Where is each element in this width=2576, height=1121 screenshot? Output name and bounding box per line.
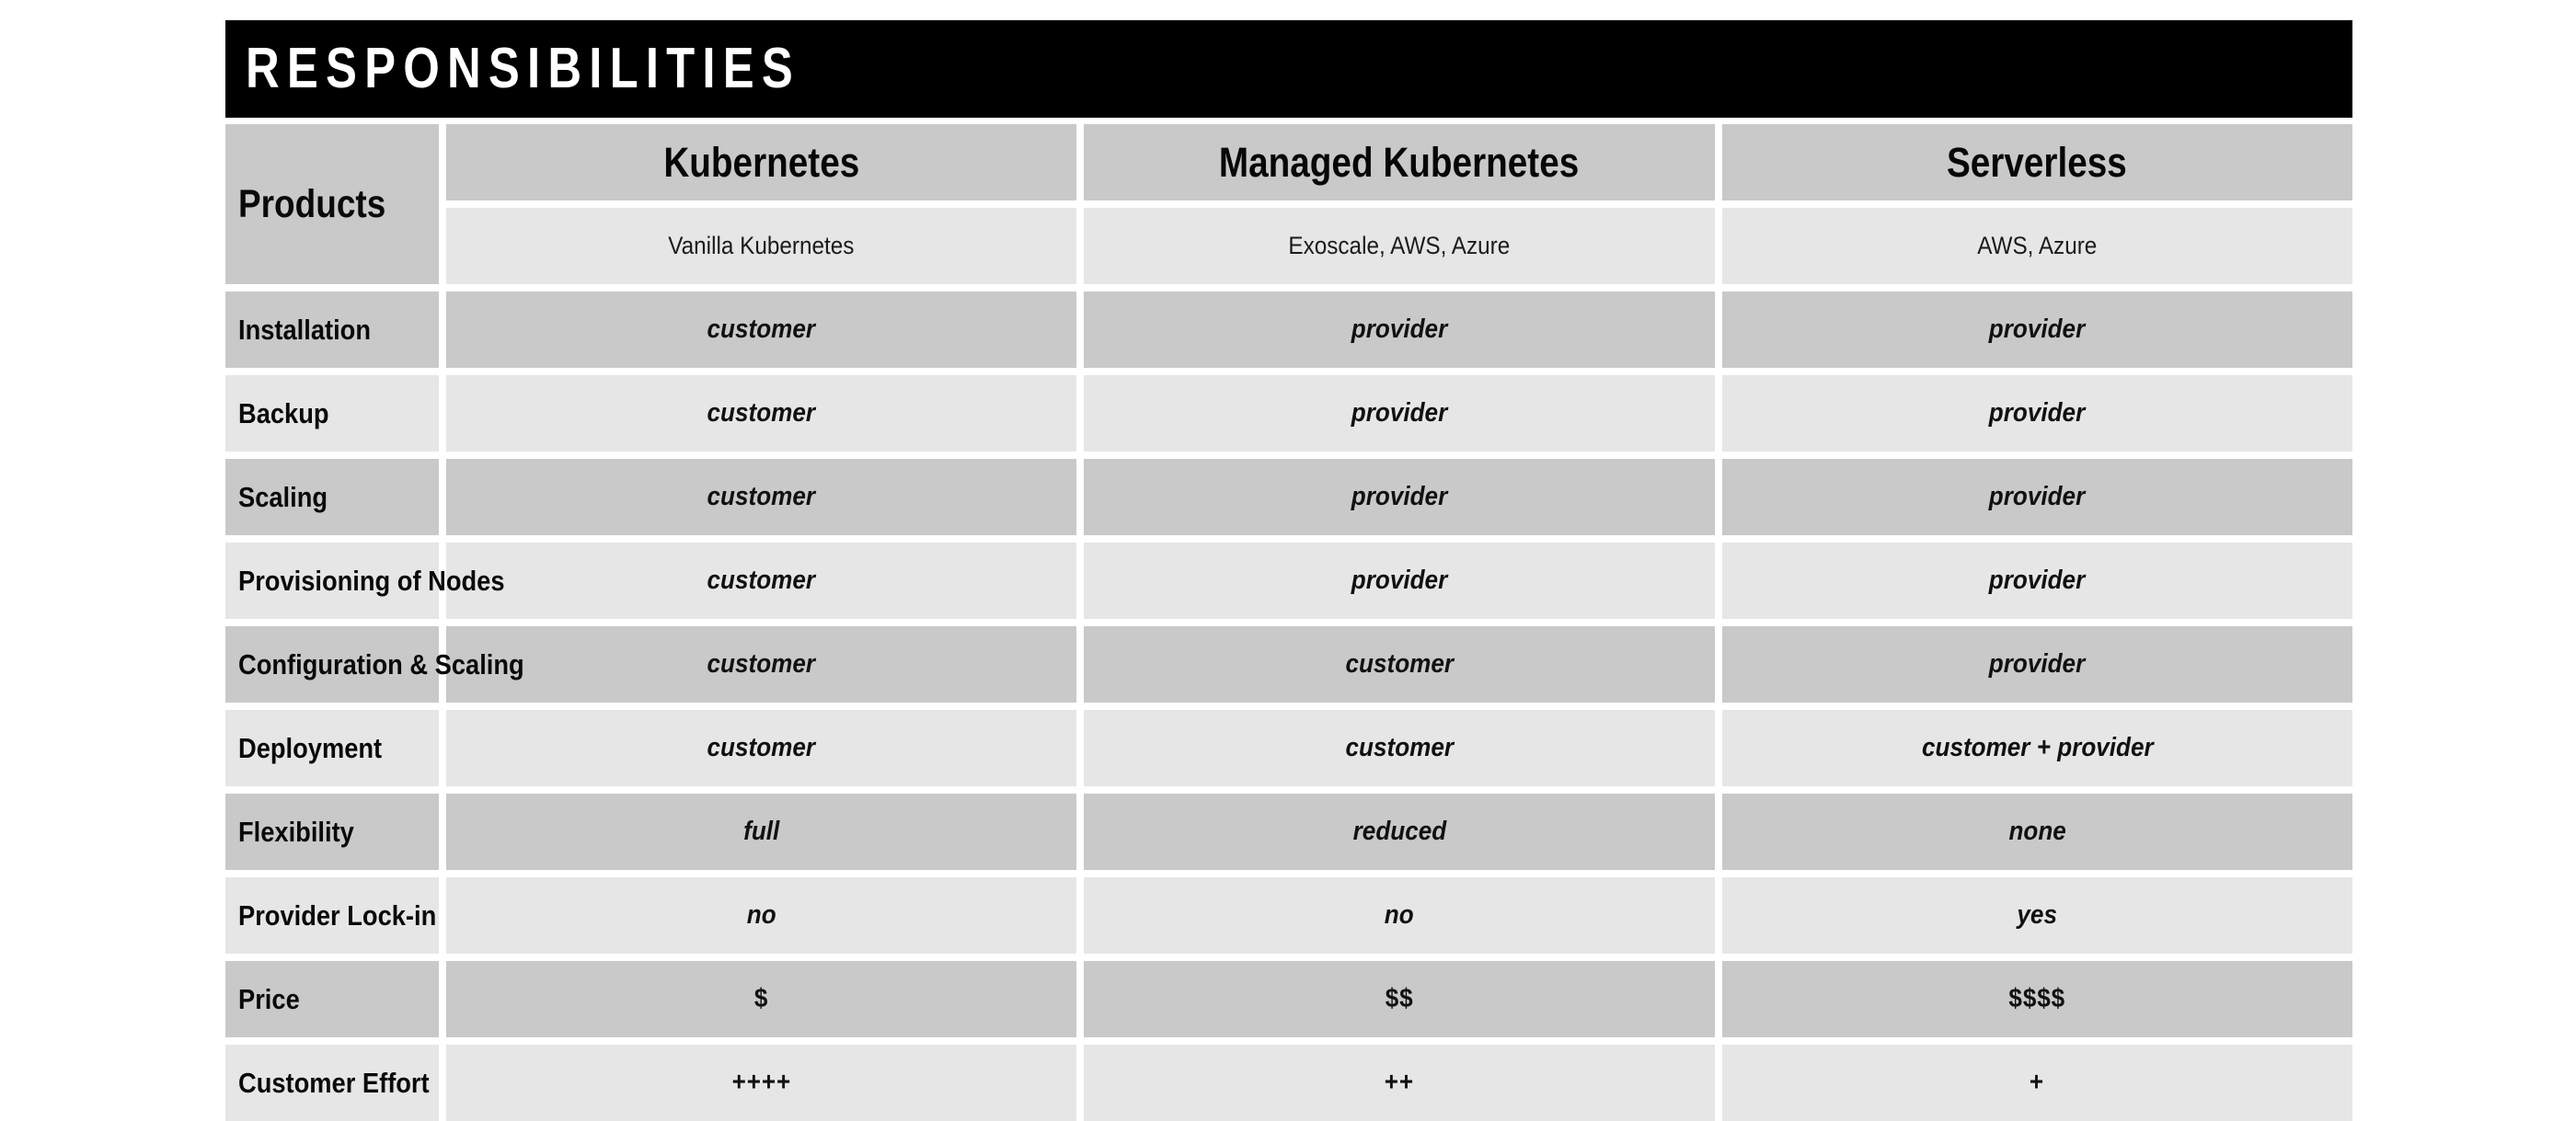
row-label-text: Deployment — [238, 732, 382, 765]
row-label-text: Configuration & Scaling — [238, 648, 524, 681]
table-cell: customer — [446, 710, 1076, 786]
table-cell: $$ — [1084, 961, 1714, 1037]
table-cell: provider — [1722, 543, 2352, 619]
table-cell: ++ — [1084, 1045, 1714, 1121]
row-label: Deployment — [225, 710, 439, 786]
table-cell: provider — [1084, 375, 1714, 452]
table-cell-value: provider — [1989, 315, 2085, 345]
row-label: Installation — [225, 292, 439, 368]
table-cell-value: $$ — [1386, 984, 1414, 1014]
table-cell-value: full — [743, 817, 779, 847]
table-cell-value: $ — [754, 984, 768, 1014]
table-cell-value: provider — [1351, 315, 1447, 345]
table-cell: provider — [1084, 543, 1714, 619]
comparison-grid: ProductsKubernetesManaged KubernetesServ… — [225, 124, 2352, 1121]
column-subheader-label: Exoscale, AWS, Azure — [1289, 232, 1511, 260]
table-cell: customer — [446, 459, 1076, 535]
row-label-text: Price — [238, 983, 300, 1016]
table-cell: no — [1084, 877, 1714, 954]
table-cell: no — [446, 877, 1076, 954]
table-cell: yes — [1722, 877, 2352, 954]
row-label-text: Installation — [238, 314, 371, 347]
table-cell: customer — [446, 292, 1076, 368]
table-cell-value: no — [747, 900, 776, 931]
column-subheader-1: Vanilla Kubernetes — [446, 208, 1076, 284]
table-cell-value: no — [1385, 900, 1414, 931]
row-label-text: Customer Effort — [238, 1067, 430, 1100]
responsibilities-table: RESPONSIBILITIES ProductsKubernetesManag… — [225, 20, 2352, 1121]
table-cell: customer — [1084, 626, 1714, 703]
table-cell: provider — [1722, 375, 2352, 452]
row-label-text: Provisioning of Nodes — [238, 565, 504, 598]
table-cell: customer — [446, 375, 1076, 452]
table-cell-value: customer + provider — [1921, 733, 2153, 763]
table-cell-value: none — [2008, 817, 2065, 847]
table-cell-value: ++ — [1385, 1068, 1414, 1098]
table-cell: provider — [1722, 292, 2352, 368]
table-cell: customer + provider — [1722, 710, 2352, 786]
column-subheader-3: AWS, Azure — [1722, 208, 2352, 284]
table-cell-value: customer — [1345, 649, 1453, 680]
table-cell: provider — [1722, 459, 2352, 535]
table-cell-value: customer — [707, 649, 815, 680]
column-header-3: Serverless — [1722, 124, 2352, 200]
table-cell-value: + — [2030, 1068, 2044, 1098]
column-subheader-label: AWS, Azure — [1977, 232, 2097, 260]
row-label: Flexibility — [225, 794, 439, 870]
table-cell-value: customer — [707, 733, 815, 763]
table-cell-value: $$$$ — [2008, 984, 2065, 1014]
table-cell: none — [1722, 794, 2352, 870]
column-header-label: Serverless — [1947, 139, 2127, 187]
column-header-label: Kubernetes — [663, 139, 859, 187]
title-banner: RESPONSIBILITIES — [225, 20, 2352, 118]
corner-header-products: Products — [225, 124, 439, 284]
table-cell-value: ++++ — [731, 1068, 791, 1098]
row-label: Configuration & Scaling — [225, 626, 439, 703]
slide-canvas: RESPONSIBILITIES ProductsKubernetesManag… — [0, 0, 2576, 1113]
table-cell: ++++ — [446, 1045, 1076, 1121]
table-cell-value: provider — [1351, 398, 1447, 429]
table-cell-value: provider — [1351, 482, 1447, 512]
table-cell: provider — [1084, 292, 1714, 368]
column-subheader-label: Vanilla Kubernetes — [669, 232, 855, 260]
row-label-text: Flexibility — [238, 816, 354, 849]
column-header-2: Managed Kubernetes — [1084, 124, 1714, 200]
table-cell-value: customer — [707, 566, 815, 596]
table-cell: provider — [1722, 626, 2352, 703]
column-header-1: Kubernetes — [446, 124, 1076, 200]
table-cell-value: customer — [707, 315, 815, 345]
column-header-label: Managed Kubernetes — [1219, 139, 1579, 187]
table-cell-value: provider — [1989, 566, 2085, 596]
table-cell: $$$$ — [1722, 961, 2352, 1037]
table-cell: full — [446, 794, 1076, 870]
row-label-text: Provider Lock-in — [238, 899, 436, 932]
table-cell-value: yes — [2018, 900, 2058, 931]
table-cell: customer — [446, 543, 1076, 619]
row-label: Provisioning of Nodes — [225, 543, 439, 619]
corner-header-label: Products — [238, 182, 385, 227]
table-cell-value: reduced — [1352, 817, 1446, 847]
row-label: Backup — [225, 375, 439, 452]
table-cell-value: provider — [1351, 566, 1447, 596]
table-cell: $ — [446, 961, 1076, 1037]
table-cell: reduced — [1084, 794, 1714, 870]
table-cell: + — [1722, 1045, 2352, 1121]
row-label: Scaling — [225, 459, 439, 535]
row-label-text: Backup — [238, 397, 329, 430]
table-cell: provider — [1084, 459, 1714, 535]
row-label: Provider Lock-in — [225, 877, 439, 954]
table-cell-value: provider — [1989, 398, 2085, 429]
row-label: Price — [225, 961, 439, 1037]
row-label-text: Scaling — [238, 481, 328, 514]
row-label: Customer Effort — [225, 1045, 439, 1121]
table-cell-value: customer — [707, 482, 815, 512]
table-cell-value: customer — [707, 398, 815, 429]
column-subheader-2: Exoscale, AWS, Azure — [1084, 208, 1714, 284]
page-title: RESPONSIBILITIES — [246, 40, 800, 97]
table-cell-value: customer — [1345, 733, 1453, 763]
table-cell-value: provider — [1989, 482, 2085, 512]
table-cell: customer — [1084, 710, 1714, 786]
table-cell: customer — [446, 626, 1076, 703]
table-cell-value: provider — [1989, 649, 2085, 680]
